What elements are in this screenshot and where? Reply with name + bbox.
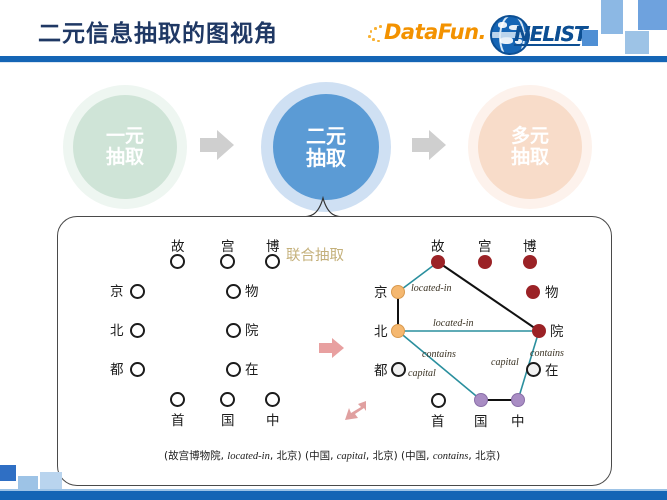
right-node-guo[interactable] [474, 393, 488, 407]
right-node-label-jing: 京 [374, 281, 388, 301]
slide-header: 二元信息抽取的图视角 DataFun. NELIST [0, 0, 667, 63]
left-node-zai[interactable] [226, 362, 241, 377]
right-node-yuan[interactable] [532, 324, 546, 338]
caption-part-8: contains [433, 451, 469, 462]
right-node-label-shou: 首 [431, 410, 445, 430]
edge-label-contains-2: contains [530, 348, 564, 359]
right-node-label-bo: 博 [523, 235, 537, 255]
left-node-label-bo: 博 [266, 235, 280, 255]
nelist-wordmark: NELIST [514, 22, 587, 46]
step-3-label: 多元 抽取 [511, 126, 549, 169]
left-node-label-wu: 物 [245, 280, 259, 300]
right-node-gong[interactable] [478, 255, 492, 269]
datafun-wordmark: DataFun. [384, 20, 486, 44]
left-node-label-yuan: 院 [245, 319, 259, 339]
right-node-label-guo: 国 [474, 410, 488, 430]
stage-flow: 一元 抽取 二元 抽取 多元 抽取 [0, 80, 667, 210]
decor-square-2 [638, 0, 667, 30]
triples-caption: (故宫博物院, located-in, 北京) (中国, capital, 北京… [164, 448, 500, 463]
right-node-zai[interactable] [526, 362, 541, 377]
footer-accent-bar [0, 491, 667, 500]
page-title: 二元信息抽取的图视角 [38, 14, 278, 48]
header-accent-bar-light [0, 62, 667, 63]
content-panel: 故 宫 博 京 北 都 物 院 在 首 国 中 [57, 216, 612, 486]
step-1-circle[interactable]: 一元 抽取 [73, 95, 177, 199]
step-2-circle[interactable]: 二元 抽取 [273, 94, 379, 200]
edge-label-contains-1: contains [422, 349, 456, 360]
right-node-gu[interactable] [431, 255, 445, 269]
left-node-label-bei: 北 [110, 319, 124, 339]
left-node-gong[interactable] [220, 254, 235, 269]
edge-label-capital-1: capital [491, 357, 519, 368]
right-node-shou[interactable] [431, 393, 446, 408]
right-node-jing[interactable] [391, 285, 405, 299]
datafun-dots-icon [368, 24, 384, 42]
datafun-logo: DataFun. [368, 20, 486, 46]
caption-part-7: (中国, [401, 450, 433, 462]
right-node-bei[interactable] [391, 324, 405, 338]
right-node-label-gong: 宫 [478, 235, 492, 255]
left-node-label-gu: 故 [171, 235, 185, 255]
edge-label-capital-2: capital [408, 368, 436, 379]
right-node-label-zai: 在 [545, 359, 559, 379]
right-node-label-yuan: 院 [550, 320, 564, 340]
decor-square-4 [625, 31, 649, 54]
edge-label-located-in-2: located-in [433, 318, 474, 329]
step-3-circle[interactable]: 多元 抽取 [478, 95, 582, 199]
transition-arrow-right-icon [319, 337, 345, 359]
left-node-bei[interactable] [130, 323, 145, 338]
decor-square-1 [601, 0, 623, 34]
right-node-label-gu: 故 [431, 235, 445, 255]
right-node-label-zhong: 中 [511, 410, 525, 430]
right-node-label-bei: 北 [374, 320, 388, 340]
brace-connector [300, 196, 346, 218]
right-node-label-wu: 物 [545, 281, 559, 301]
edge-label-located-in-1: located-in [411, 283, 452, 294]
left-node-label-du: 都 [110, 358, 124, 378]
decor-square-b1 [0, 465, 16, 481]
left-node-bo[interactable] [265, 254, 280, 269]
left-node-label-guo: 国 [221, 409, 235, 429]
right-node-zhong[interactable] [511, 393, 525, 407]
caption-part-5: capital [337, 451, 366, 462]
decor-square-3 [582, 30, 598, 46]
left-node-wu[interactable] [226, 284, 241, 299]
left-node-guo[interactable] [220, 392, 235, 407]
nelist-logo: NELIST [490, 13, 582, 53]
caption-part-4: (中国, [305, 450, 337, 462]
left-graph: 故 宫 博 京 北 都 物 院 在 首 国 中 [118, 235, 318, 435]
left-node-shou[interactable] [170, 392, 185, 407]
transition-arrow-downleft-icon [344, 399, 368, 423]
caption-part-1: (故宫博物院, [164, 450, 227, 462]
left-node-label-zhong: 中 [266, 409, 280, 429]
left-node-label-shou: 首 [171, 409, 185, 429]
step-1-label: 一元 抽取 [106, 126, 144, 169]
left-node-label-zai: 在 [245, 358, 259, 378]
caption-part-9: , 北京) [468, 450, 500, 462]
flow-arrow-1-icon [200, 128, 236, 162]
nelist-underline [514, 44, 581, 46]
right-node-bo[interactable] [523, 255, 537, 269]
caption-part-3: , 北京) [270, 450, 305, 462]
step-2-label: 二元 抽取 [306, 125, 346, 170]
left-node-du[interactable] [130, 362, 145, 377]
right-node-wu[interactable] [526, 285, 540, 299]
left-node-label-gong: 宫 [221, 235, 235, 255]
right-node-du[interactable] [391, 362, 406, 377]
right-node-label-du: 都 [374, 359, 388, 379]
left-node-yuan[interactable] [226, 323, 241, 338]
flow-arrow-2-icon [412, 128, 448, 162]
left-node-jing[interactable] [130, 284, 145, 299]
left-node-gu[interactable] [170, 254, 185, 269]
slide-root: 二元信息抽取的图视角 DataFun. NELIST [0, 0, 667, 500]
right-graph: 故 宫 博 京 北 都 物 院 在 首 国 中 [378, 235, 588, 435]
left-node-label-jing: 京 [110, 280, 124, 300]
joint-extraction-label: 联合抽取 [286, 244, 344, 265]
left-node-zhong[interactable] [265, 392, 280, 407]
caption-part-2: located-in [227, 451, 270, 462]
caption-part-6: , 北京) [366, 450, 401, 462]
